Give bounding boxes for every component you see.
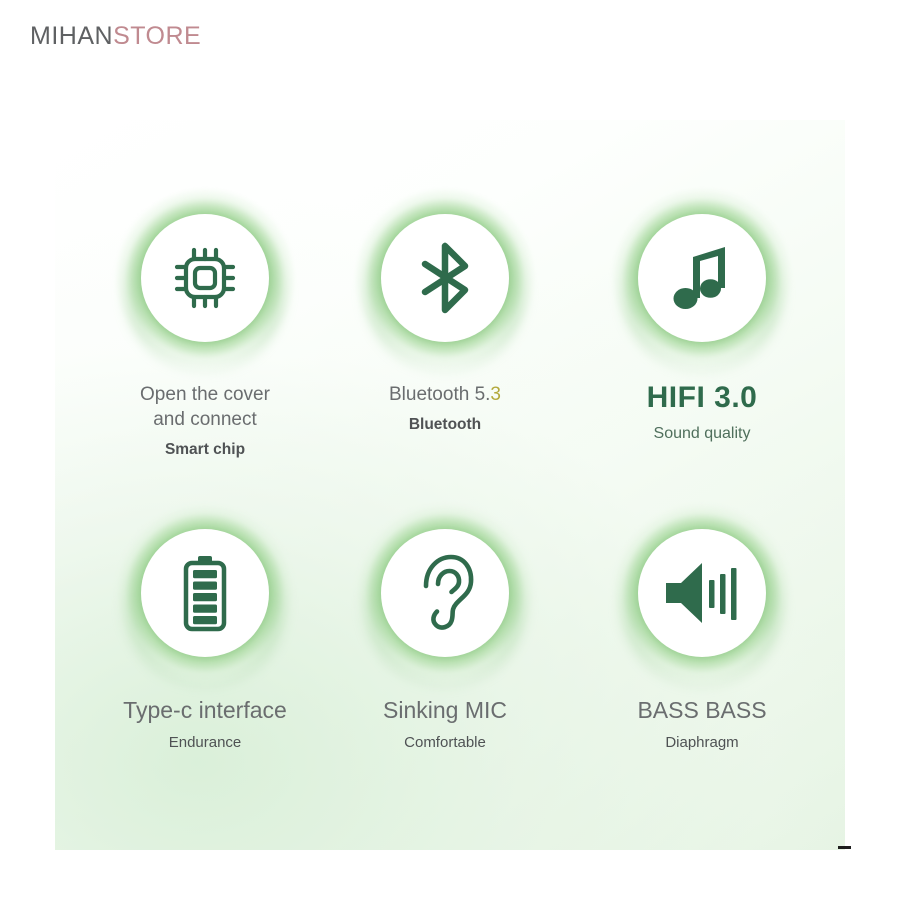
feature-title: HIFI 3.0 <box>572 382 832 414</box>
feature-title: Open the cover and connect <box>75 382 335 432</box>
ear-icon <box>414 552 476 634</box>
speaker-volume-icon <box>662 560 742 626</box>
feature-title-version-highlight: 3 <box>490 384 501 405</box>
feature-subtitle: Comfortable <box>315 734 575 753</box>
feature-caption: HIFI 3.0 Sound quality <box>572 382 832 444</box>
feature-card-endurance[interactable]: Type-c interface Endurance <box>75 503 335 753</box>
feature-card-bluetooth[interactable]: Bluetooth 5.3 Bluetooth <box>315 188 575 434</box>
feature-title: Type-c interface <box>75 695 335 725</box>
feature-title-prefix: Bluetooth 5. <box>389 384 490 405</box>
bluetooth-icon <box>411 240 479 316</box>
feature-caption: BASS BASS Diaphragm <box>572 695 832 753</box>
feature-grid: Open the cover and connect Smart chip Bl… <box>0 0 900 900</box>
feature-subtitle: Sound quality <box>572 424 832 444</box>
badge-inner-disc <box>381 214 509 342</box>
stray-dash-mark <box>838 846 851 849</box>
feature-caption: Sinking MIC Comfortable <box>315 695 575 753</box>
feature-title: Bluetooth 5.3 <box>315 382 575 407</box>
badge-inner-disc <box>381 529 509 657</box>
feature-badge <box>612 188 792 368</box>
feature-title: Sinking MIC <box>315 695 575 725</box>
feature-card-comfortable[interactable]: Sinking MIC Comfortable <box>315 503 575 753</box>
badge-inner-disc <box>638 214 766 342</box>
feature-caption: Open the cover and connect Smart chip <box>75 382 335 460</box>
feature-title: BASS BASS <box>572 695 832 725</box>
badge-inner-disc <box>141 214 269 342</box>
badge-inner-disc <box>141 529 269 657</box>
feature-badge <box>355 503 535 683</box>
feature-caption: Type-c interface Endurance <box>75 695 335 753</box>
chip-icon <box>169 242 241 314</box>
feature-subtitle: Smart chip <box>75 440 335 459</box>
feature-badge <box>355 188 535 368</box>
feature-subtitle: Bluetooth <box>315 415 575 434</box>
feature-badge <box>115 503 295 683</box>
feature-card-diaphragm[interactable]: BASS BASS Diaphragm <box>572 503 832 753</box>
feature-subtitle: Diaphragm <box>572 734 832 753</box>
battery-icon <box>180 554 230 632</box>
feature-card-smart-chip[interactable]: Open the cover and connect Smart chip <box>75 188 335 460</box>
feature-caption: Bluetooth 5.3 Bluetooth <box>315 382 575 434</box>
feature-card-sound-quality[interactable]: HIFI 3.0 Sound quality <box>572 188 832 444</box>
feature-subtitle: Endurance <box>75 734 335 753</box>
feature-badge <box>115 188 295 368</box>
badge-inner-disc <box>638 529 766 657</box>
music-note-icon <box>667 241 737 315</box>
feature-badge <box>612 503 792 683</box>
